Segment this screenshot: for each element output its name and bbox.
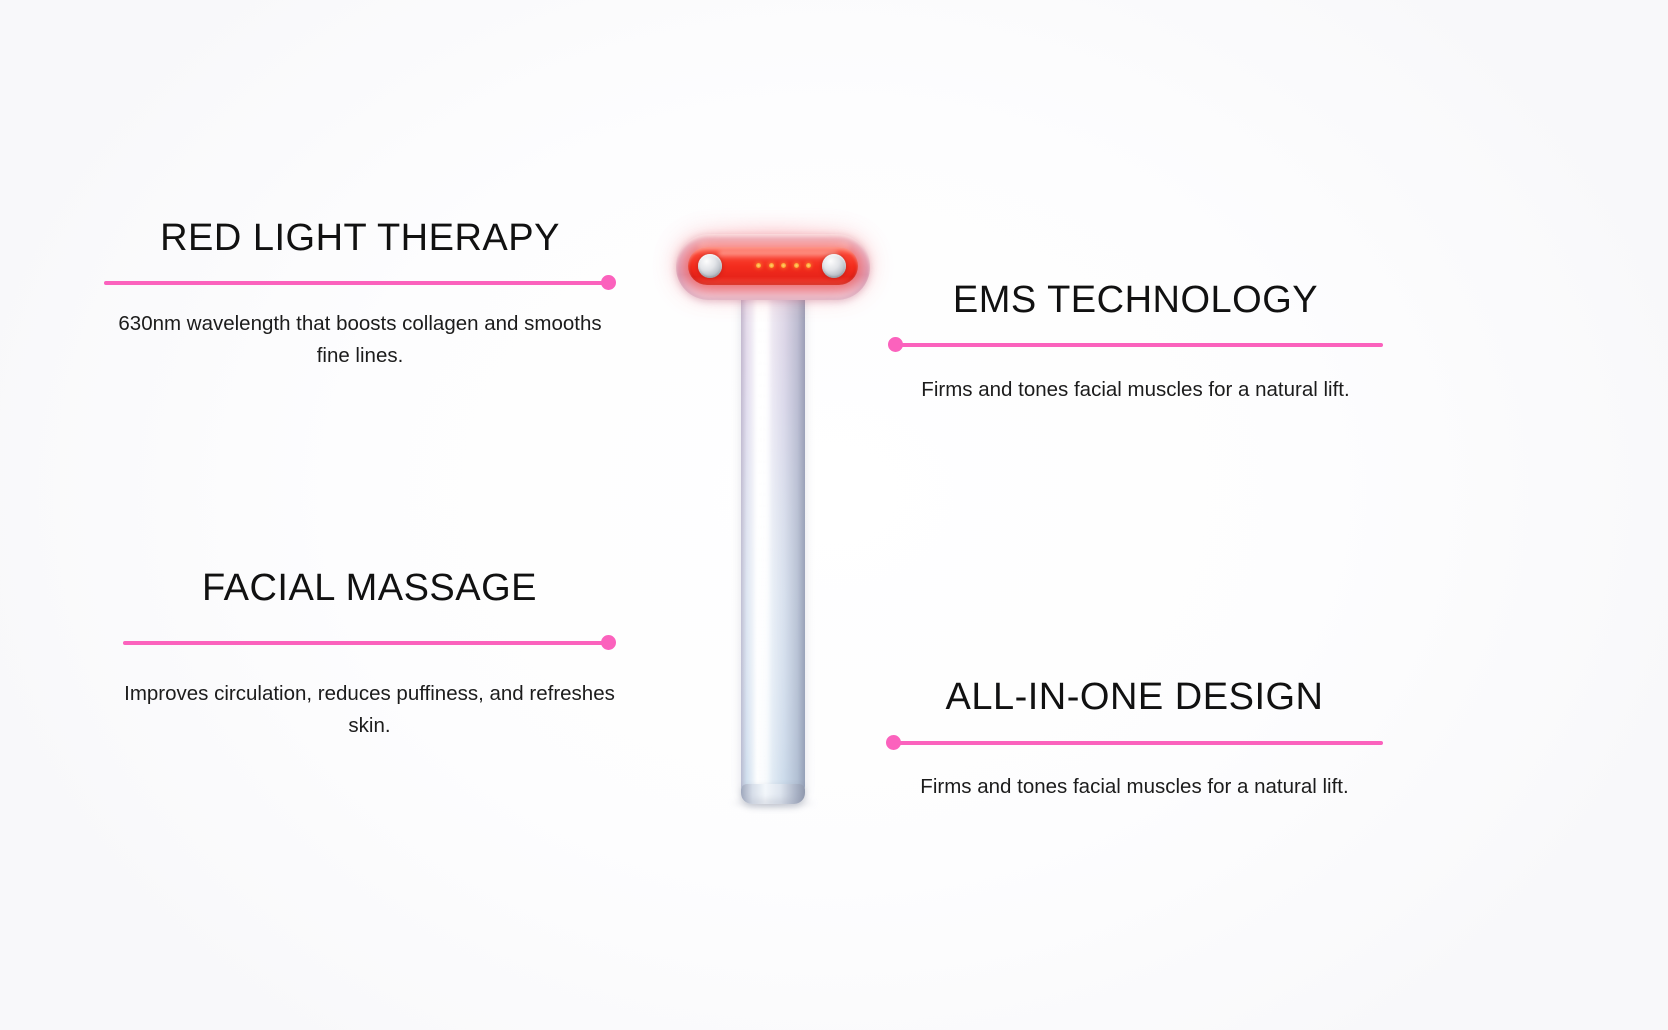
- connector-rule: [123, 632, 616, 654]
- feature-title: RED LIGHT THERAPY: [104, 218, 616, 260]
- feature-description: Improves circulation, reduces puffiness,…: [123, 678, 616, 742]
- feature-red-light-therapy: RED LIGHT THERAPY 630nm wavelength that …: [104, 218, 616, 371]
- feature-title: ALL-IN-ONE DESIGN: [886, 677, 1383, 719]
- connector-line: [896, 343, 1383, 347]
- connector-dot: [888, 337, 903, 352]
- feature-description: Firms and tones facial muscles for a nat…: [888, 374, 1383, 406]
- indicator-dot: [756, 263, 761, 268]
- product-device-image: [672, 228, 872, 798]
- infographic-canvas: RED LIGHT THERAPY 630nm wavelength that …: [0, 0, 1668, 1030]
- led-specular-highlight: [718, 251, 838, 259]
- feature-title: EMS TECHNOLOGY: [888, 280, 1383, 322]
- feature-all-in-one-design: ALL-IN-ONE DESIGN Firms and tones facial…: [886, 677, 1383, 803]
- device-handle: [741, 290, 805, 795]
- feature-description: 630nm wavelength that boosts collagen an…: [104, 308, 616, 372]
- connector-line: [123, 641, 608, 645]
- ems-contact-left-icon: [698, 254, 722, 278]
- indicator-dot: [794, 263, 799, 268]
- feature-ems-technology: EMS TECHNOLOGY Firms and tones facial mu…: [888, 280, 1383, 406]
- device-handle-highlight: [756, 294, 769, 790]
- connector-rule: [104, 272, 616, 294]
- connector-line: [894, 741, 1383, 745]
- connector-dot: [601, 275, 616, 290]
- indicator-dot: [806, 263, 811, 268]
- connector-rule: [888, 334, 1383, 356]
- feature-title: FACIAL MASSAGE: [123, 568, 616, 610]
- ems-contact-right-icon: [822, 254, 846, 278]
- indicator-dots: [756, 263, 811, 268]
- connector-line: [104, 281, 608, 285]
- connector-rule: [886, 732, 1383, 754]
- feature-description: Firms and tones facial muscles for a nat…: [886, 771, 1383, 803]
- indicator-dot: [769, 263, 774, 268]
- indicator-dot: [781, 263, 786, 268]
- connector-dot: [601, 635, 616, 650]
- feature-facial-massage: FACIAL MASSAGE Improves circulation, red…: [123, 568, 616, 741]
- connector-dot: [886, 735, 901, 750]
- device-drop-shadow: [732, 798, 814, 808]
